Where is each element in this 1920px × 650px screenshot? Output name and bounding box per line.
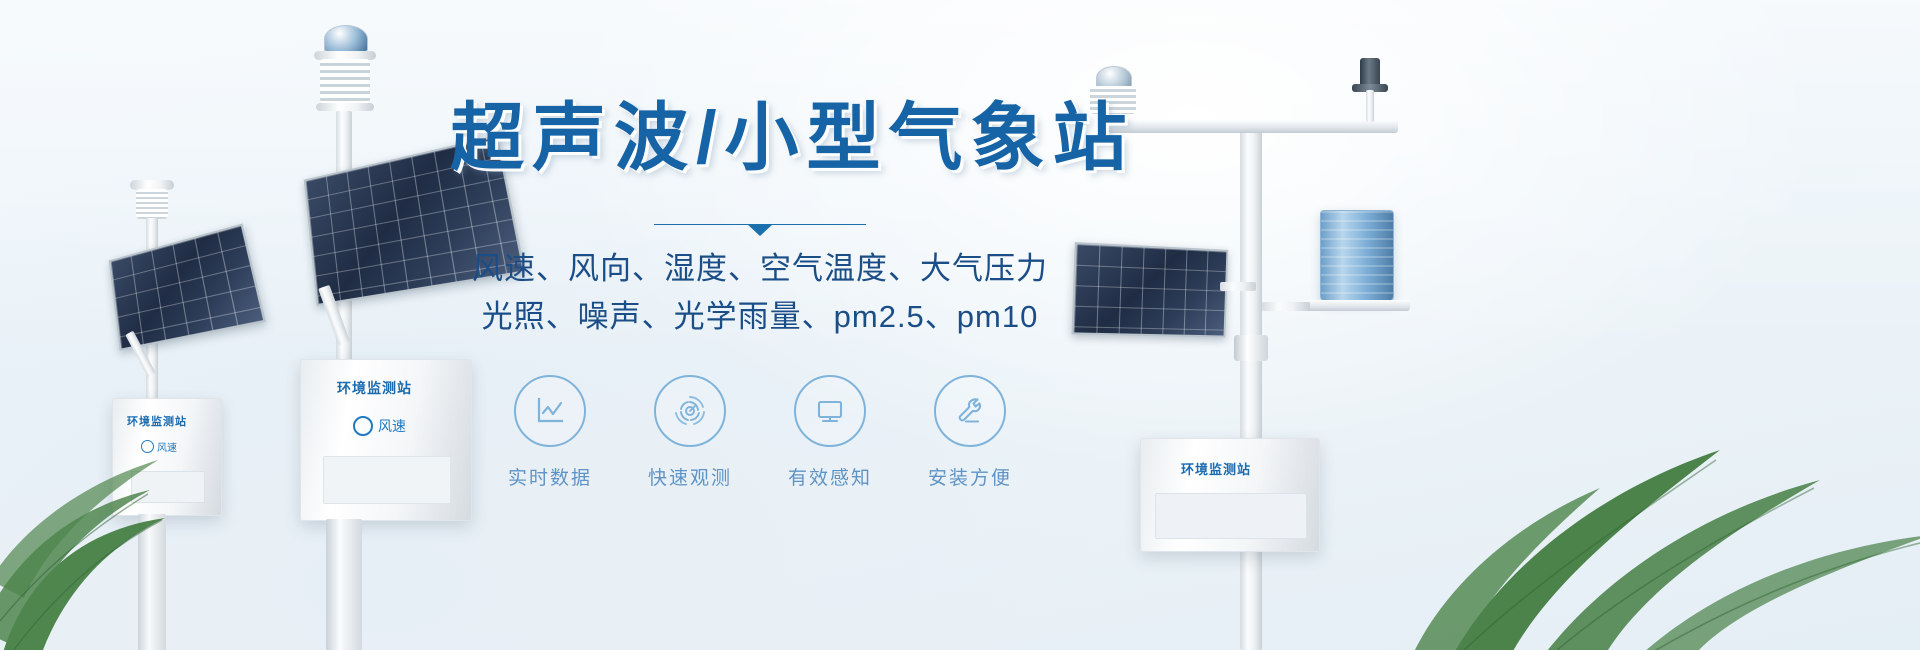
brand-logo-icon xyxy=(353,416,373,436)
line-chart-icon xyxy=(532,393,568,429)
station-base-post xyxy=(326,519,362,650)
wind-vane-post xyxy=(1366,90,1374,122)
monitor-display-icon xyxy=(812,393,848,429)
cabinet-brand: 风速 xyxy=(353,416,406,436)
control-cabinet: 环境监测站 xyxy=(1140,438,1320,552)
title-divider xyxy=(654,224,866,225)
panel-support-arm xyxy=(1220,282,1256,291)
feature-icon-circle xyxy=(794,375,866,447)
feature-item-fast-observation[interactable]: 快速观测 xyxy=(634,375,746,490)
shelf-support-arm xyxy=(1262,302,1310,311)
station-mast xyxy=(1240,120,1262,650)
feature-label: 快速观测 xyxy=(648,463,732,490)
feature-icon-circle xyxy=(654,375,726,447)
solar-panel xyxy=(1072,242,1229,337)
product-banner: 环境监测站 风速 环境监测站 风速 xyxy=(0,0,1920,650)
feature-label: 安装方便 xyxy=(928,463,1012,490)
feature-item-easy-installation[interactable]: 安装方便 xyxy=(914,375,1026,490)
page-title: 超声波/小型气象站 xyxy=(450,95,1070,180)
cabinet-label: 环境监测站 xyxy=(1181,459,1251,478)
rain-gauge-bucket xyxy=(1320,210,1394,302)
feature-list: 实时数据 xyxy=(450,375,1070,490)
cross-arm xyxy=(1108,120,1398,133)
subtitle-line-1: 风速、风向、湿度、空气温度、大气压力 xyxy=(450,245,1070,293)
feature-icon-circle xyxy=(934,375,1006,447)
palm-leaf-left-decoration xyxy=(0,330,230,650)
feature-item-effective-sensing[interactable]: 有效感知 xyxy=(774,375,886,490)
subtitle-line-2: 光照、噪声、光学雨量、pm2.5、pm10 xyxy=(450,293,1070,341)
cabinet-vent-panel xyxy=(323,456,451,504)
feature-label: 有效感知 xyxy=(788,463,872,490)
sensor-radiation-shield xyxy=(136,189,168,219)
cabinet-label: 环境监测站 xyxy=(337,378,412,398)
feature-item-realtime-data[interactable]: 实时数据 xyxy=(494,375,606,490)
mast-collar xyxy=(1234,335,1268,361)
control-cabinet: 环境监测站 风速 xyxy=(300,359,472,521)
banner-content: 超声波/小型气象站 风速、风向、湿度、空气温度、大气压力 光照、噪声、光学雨量、… xyxy=(450,95,1070,490)
sensor-bottom-plate xyxy=(316,103,374,111)
cabinet-vent-panel xyxy=(1155,493,1307,539)
palm-leaf-right-decoration xyxy=(1390,300,1920,650)
feature-icon-circle xyxy=(514,375,586,447)
ultrasonic-dome-sensor xyxy=(324,25,368,53)
radiation-shield-stack xyxy=(320,59,370,103)
radar-observation-icon xyxy=(672,393,708,429)
wrench-tool-icon xyxy=(952,393,988,429)
feature-label: 实时数据 xyxy=(508,463,592,490)
